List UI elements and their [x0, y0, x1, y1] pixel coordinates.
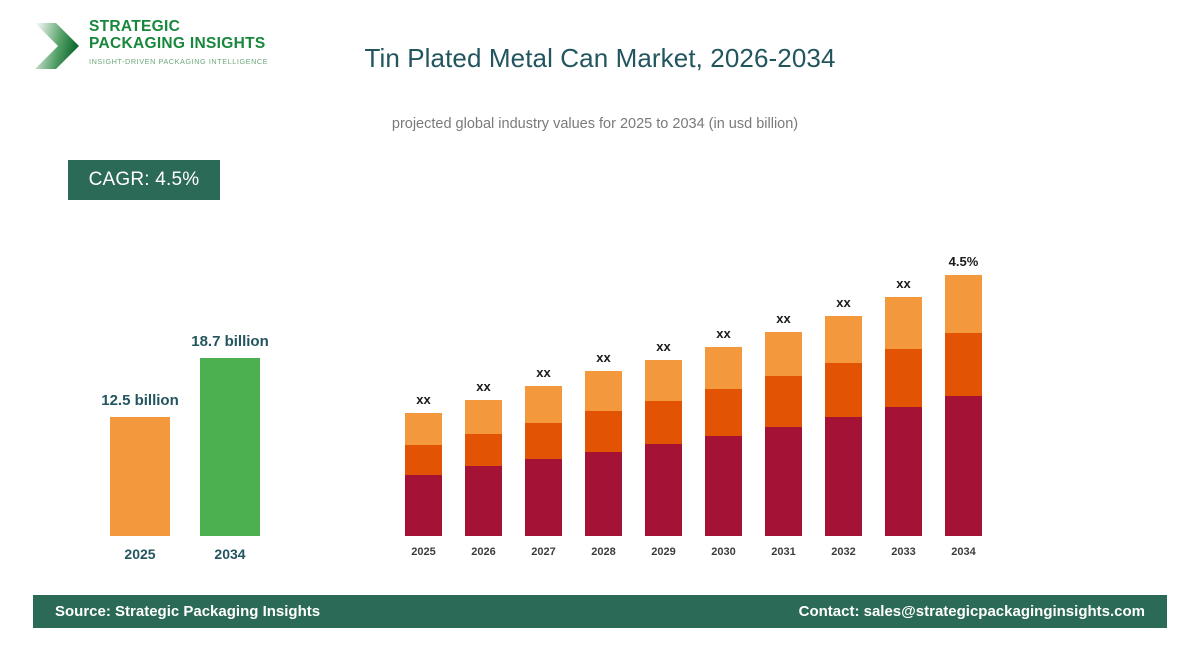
footer-bar: Source: Strategic Packaging Insights Con… — [33, 595, 1167, 628]
stacked-bar-stack — [705, 347, 742, 536]
stacked-bar-2026: xx2026 — [465, 200, 502, 560]
stacked-bar-top-label: xx — [624, 339, 704, 354]
stacked-segment-segment-3 — [945, 275, 982, 333]
stacked-bar-stack — [585, 371, 622, 536]
stacked-bar-2033: xx2033 — [885, 200, 922, 560]
stacked-bar-top-label: xx — [444, 379, 524, 394]
stacked-bar-stack — [525, 386, 562, 536]
stacked-segment-segment-3 — [765, 332, 802, 376]
footer-contact-text: Contact: sales@strategicpackaginginsight… — [799, 603, 1145, 620]
stacked-bar-stack — [405, 413, 442, 536]
simple-bar-x-label-2034: 2034 — [170, 546, 290, 562]
stacked-segment-segment-1 — [765, 427, 802, 536]
stacked-bar-top-label: xx — [864, 276, 944, 291]
stacked-segment-segment-3 — [525, 386, 562, 423]
market-size-comparison-chart: 12.5 billion202518.7 billion2034 — [50, 300, 300, 570]
simple-bar-2025: 12.5 billion — [110, 417, 170, 536]
stacked-segment-segment-2 — [405, 445, 442, 475]
stacked-bar-top-label: xx — [384, 392, 464, 407]
stacked-segment-segment-1 — [585, 452, 622, 536]
stacked-bar-top-label: xx — [744, 311, 824, 326]
stacked-segment-segment-2 — [645, 401, 682, 444]
stacked-segment-segment-3 — [705, 347, 742, 389]
stacked-segment-segment-1 — [645, 444, 682, 536]
stacked-bar-2032: xx2032 — [825, 200, 862, 560]
stacked-segment-segment-3 — [645, 360, 682, 401]
stacked-segment-segment-1 — [465, 466, 502, 536]
cagr-badge: CAGR: 4.5% — [68, 160, 220, 200]
simple-bar-2034: 18.7 billion — [200, 358, 260, 536]
stacked-segment-segment-1 — [825, 417, 862, 536]
stacked-bar-2027: xx2027 — [525, 200, 562, 560]
stacked-bar-2030: xx2030 — [705, 200, 742, 560]
stacked-segment-segment-1 — [945, 396, 982, 536]
stacked-segment-segment-2 — [945, 333, 982, 396]
stacked-bar-stack — [465, 400, 502, 536]
stacked-bar-2031: xx2031 — [765, 200, 802, 560]
simple-bar-rect — [200, 358, 260, 536]
infographic-page: STRATEGIC PACKAGING INSIGHTS INSIGHT-DRI… — [0, 0, 1200, 650]
stacked-segment-segment-1 — [885, 407, 922, 536]
simple-bar-rect — [110, 417, 170, 536]
stacked-bar-stack — [645, 360, 682, 536]
footer-source-text: Source: Strategic Packaging Insights — [55, 603, 320, 620]
stacked-segment-segment-2 — [705, 389, 742, 436]
stacked-bar-stack — [765, 332, 802, 536]
page-title: Tin Plated Metal Can Market, 2026-2034 — [0, 43, 1200, 74]
stacked-segment-segment-1 — [525, 459, 562, 536]
stacked-segment-segment-2 — [765, 376, 802, 427]
stacked-segment-segment-1 — [705, 436, 742, 536]
stacked-segment-segment-3 — [585, 371, 622, 411]
page-subtitle: projected global industry values for 202… — [0, 116, 1190, 132]
stacked-bar-2025: xx2025 — [405, 200, 442, 560]
stacked-bar-stack — [885, 297, 922, 536]
stacked-segment-segment-2 — [525, 423, 562, 459]
stacked-bar-2028: xx2028 — [585, 200, 622, 560]
stacked-segment-segment-2 — [465, 434, 502, 466]
stacked-bar-x-label-2034: 2034 — [929, 546, 999, 558]
stacked-bar-top-label: xx — [804, 295, 884, 310]
stacked-bar-top-label: xx — [504, 365, 584, 380]
stacked-bar-2029: xx2029 — [645, 200, 682, 560]
stacked-bar-top-label: xx — [684, 326, 764, 341]
simple-bar-value-label: 18.7 billion — [130, 333, 330, 350]
stacked-bar-top-label: 4.5% — [924, 254, 1004, 269]
stacked-segment-segment-3 — [885, 297, 922, 349]
stacked-segment-segment-3 — [825, 316, 862, 363]
logo-line-1: STRATEGIC — [89, 18, 268, 35]
stacked-segment-segment-2 — [825, 363, 862, 417]
stacked-bar-stack — [825, 316, 862, 536]
stacked-segment-segment-3 — [405, 413, 442, 445]
stacked-bar-2034: 4.5%2034 — [945, 200, 982, 560]
stacked-segment-segment-3 — [465, 400, 502, 434]
stacked-bar-stack — [945, 275, 982, 536]
stacked-segment-segment-1 — [405, 475, 442, 536]
stacked-segment-segment-2 — [585, 411, 622, 452]
segment-forecast-stacked-chart: xx2025xx2026xx2027xx2028xx2029xx2030xx20… — [405, 200, 1005, 560]
stacked-segment-segment-2 — [885, 349, 922, 407]
